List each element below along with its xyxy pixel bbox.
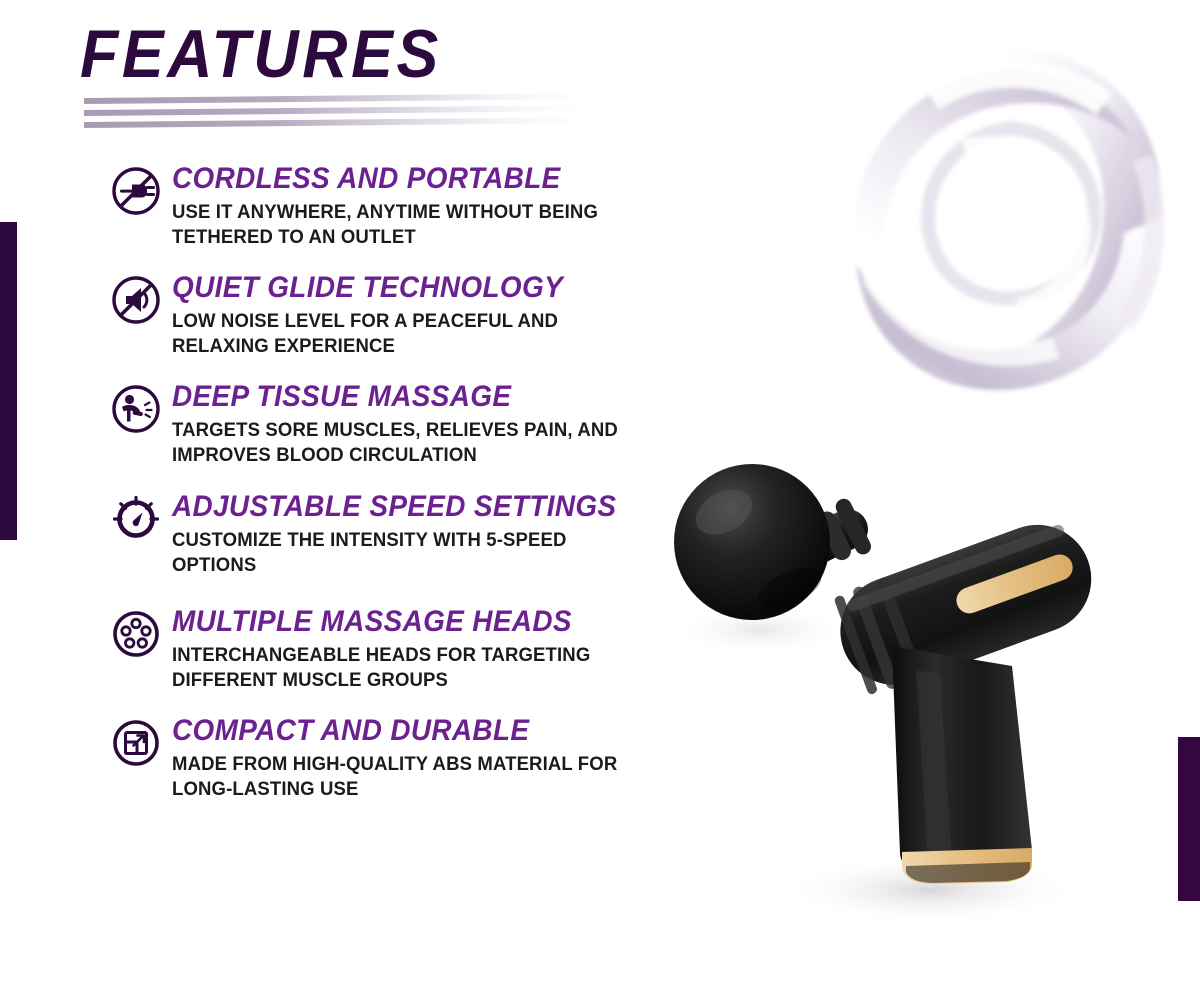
multiple-heads-icon (110, 608, 162, 660)
feature-title: MULTIPLE MASSAGE HEADS (172, 606, 644, 638)
left-accent-bar (0, 222, 17, 540)
compact-resize-icon (110, 717, 162, 769)
feature-description: LOW NOISE LEVEL FOR A PEACEFUL AND RELAX… (172, 309, 655, 359)
feature-title: COMPACT AND DURABLE (172, 715, 644, 747)
feature-description: CUSTOMIZE THE INTENSITY WITH 5-SPEED OPT… (172, 528, 655, 578)
feature-text: COMPACT AND DURABLE MADE FROM HIGH-QUALI… (172, 715, 680, 802)
feature-text: CORDLESS AND PORTABLE USE IT ANYWHERE, A… (172, 163, 680, 250)
feature-text: DEEP TISSUE MASSAGE TARGETS SORE MUSCLES… (172, 381, 680, 468)
speedometer-icon (110, 493, 162, 545)
feature-item-cordless-and-portable: CORDLESS AND PORTABLE USE IT ANYWHERE, A… (110, 163, 680, 250)
feature-title: QUIET GLIDE TECHNOLOGY (172, 272, 644, 304)
page-title: FEATURES (80, 14, 595, 94)
underline-rule-1 (84, 93, 580, 104)
abstract-swirl-graphic (812, 8, 1200, 438)
no-plug-icon (110, 165, 162, 217)
feature-item-deep-tissue-massage: DEEP TISSUE MASSAGE TARGETS SORE MUSCLES… (110, 381, 680, 468)
mute-speaker-icon (110, 274, 162, 326)
title-underline-rules (84, 96, 584, 142)
feature-item-multiple-massage-heads: MULTIPLE MASSAGE HEADS INTERCHANGEABLE H… (110, 606, 680, 693)
feature-item-compact-and-durable: COMPACT AND DURABLE MADE FROM HIGH-QUALI… (110, 715, 680, 802)
massage-gun-icon (110, 383, 162, 435)
right-accent-bar (1178, 737, 1200, 901)
feature-title: ADJUSTABLE SPEED SETTINGS (172, 491, 644, 523)
feature-text: ADJUSTABLE SPEED SETTINGS CUSTOMIZE THE … (172, 491, 680, 578)
underline-rule-3 (84, 117, 580, 128)
features-page: FEATURES CORD (0, 0, 1200, 1000)
feature-text: QUIET GLIDE TECHNOLOGY LOW NOISE LEVEL F… (172, 272, 680, 359)
feature-item-quiet-glide-technology: QUIET GLIDE TECHNOLOGY LOW NOISE LEVEL F… (110, 272, 680, 359)
feature-list: CORDLESS AND PORTABLE USE IT ANYWHERE, A… (110, 163, 680, 802)
feature-description: INTERCHANGEABLE HEADS FOR TARGETING DIFF… (172, 643, 655, 693)
feature-text: MULTIPLE MASSAGE HEADS INTERCHANGEABLE H… (172, 606, 680, 693)
feature-title: DEEP TISSUE MASSAGE (172, 381, 644, 413)
page-header: FEATURES (80, 14, 640, 134)
feature-description: TARGETS SORE MUSCLES, RELIEVES PAIN, AND… (172, 418, 655, 468)
feature-title: CORDLESS AND PORTABLE (172, 163, 644, 195)
massage-gun-product-photo (640, 420, 1140, 940)
underline-rule-2 (84, 105, 580, 116)
feature-description: USE IT ANYWHERE, ANYTIME WITHOUT BEING T… (172, 200, 655, 250)
feature-item-adjustable-speed-settings: ADJUSTABLE SPEED SETTINGS CUSTOMIZE THE … (110, 491, 680, 578)
feature-description: MADE FROM HIGH-QUALITY ABS MATERIAL FOR … (172, 752, 655, 802)
